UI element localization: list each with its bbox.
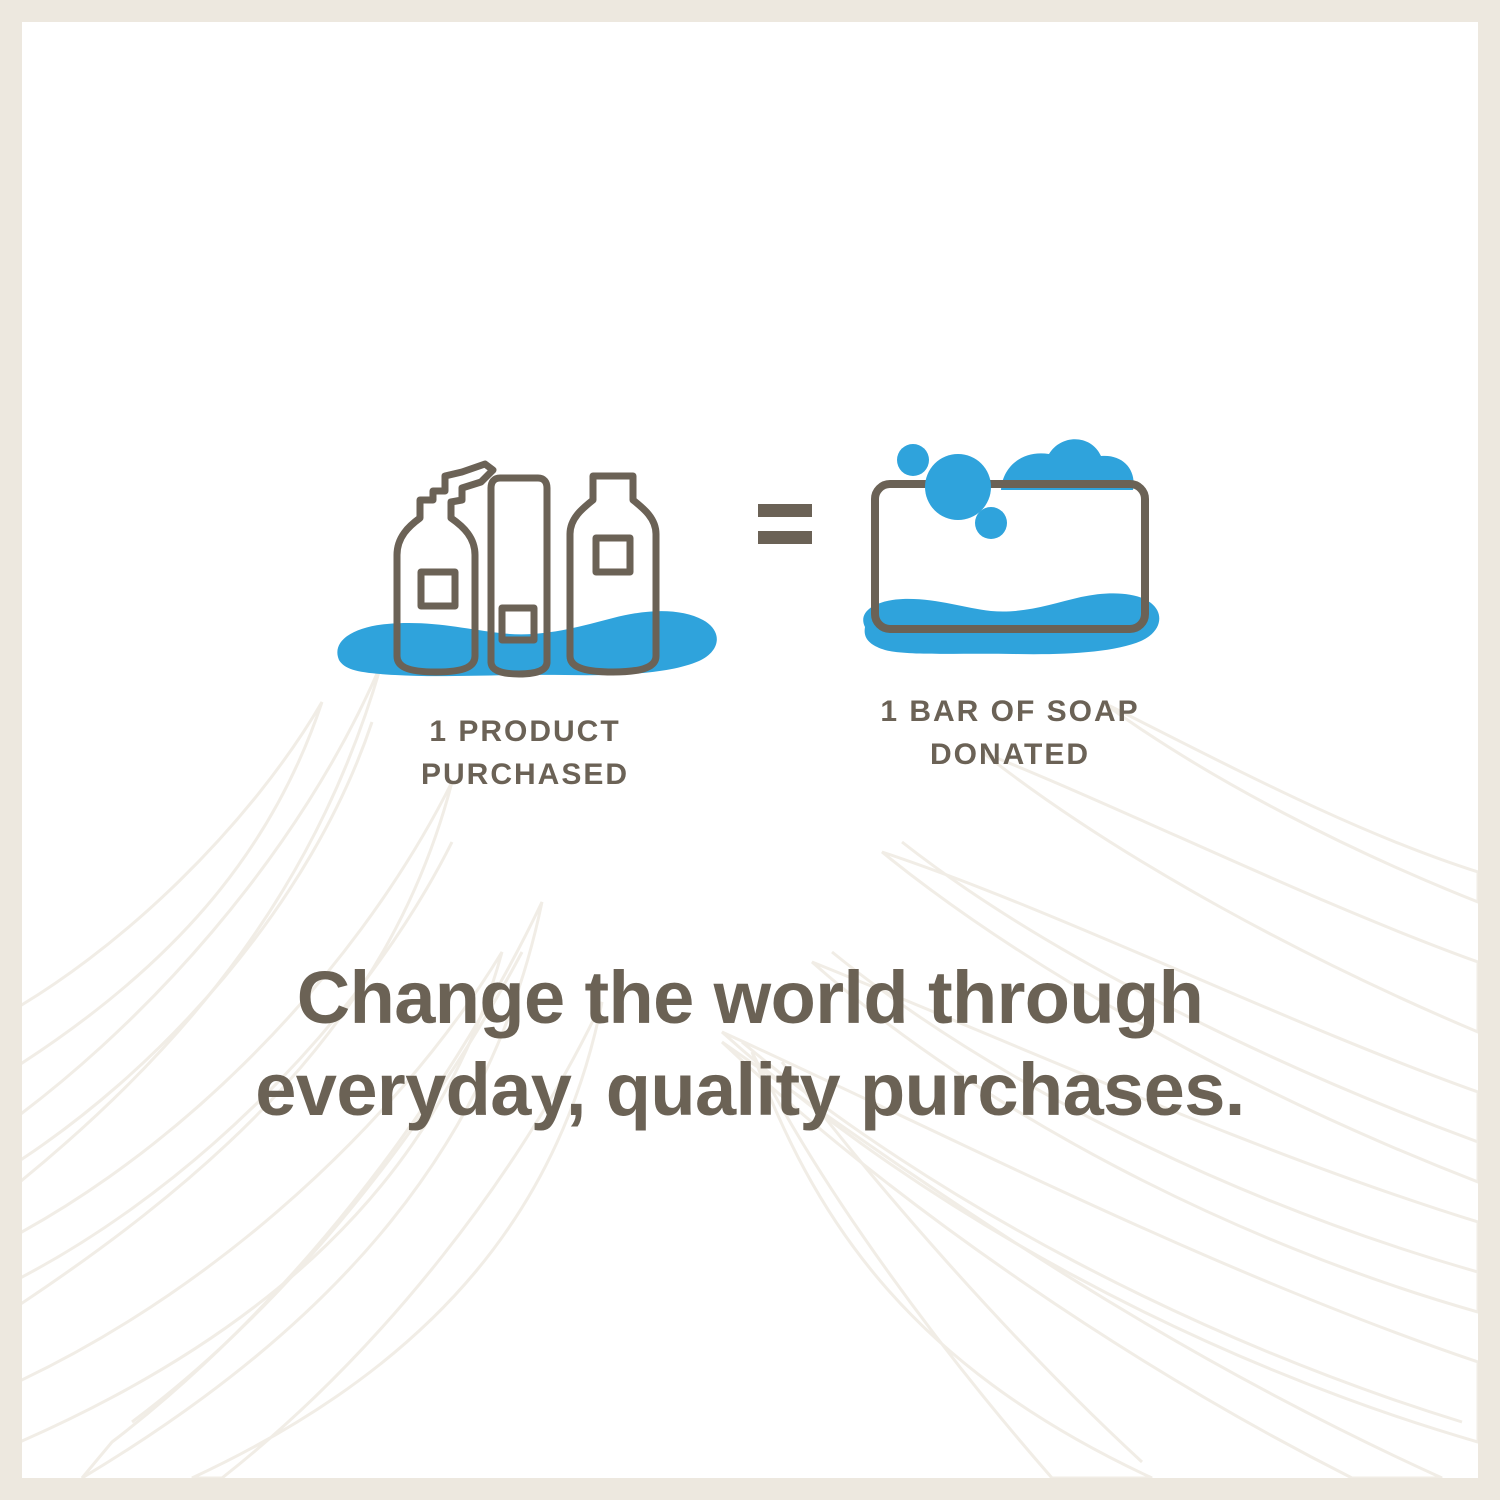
bar-of-soap-with-bubbles-icon xyxy=(845,412,1175,677)
three-product-bottles-icon xyxy=(325,412,725,697)
equals-bar-bottom xyxy=(758,531,812,544)
purchase-donation-comparison: 1 PRODUCT PURCHASED xyxy=(22,412,1478,796)
bubble-small-top xyxy=(897,444,929,476)
headline-line-2: everyday, quality purchases. xyxy=(82,1044,1418,1136)
product-purchased-block: 1 PRODUCT PURCHASED xyxy=(325,412,725,796)
promo-graphic: 1 PRODUCT PURCHASED xyxy=(0,0,1500,1500)
caption-line-2: PURCHASED xyxy=(421,758,629,791)
caption-line-1: 1 BAR OF SOAP xyxy=(880,695,1139,728)
soap-donated-block: 1 BAR OF SOAP DONATED xyxy=(845,412,1175,776)
caption-line-1: 1 PRODUCT xyxy=(429,715,620,748)
bubble-large xyxy=(925,454,991,520)
bubble-tiny xyxy=(975,507,1007,539)
equals-sign-icon xyxy=(725,504,845,544)
product-purchased-caption: 1 PRODUCT PURCHASED xyxy=(421,711,629,796)
headline: Change the world through everyday, quali… xyxy=(22,952,1478,1136)
white-canvas: 1 PRODUCT PURCHASED xyxy=(22,22,1478,1478)
caption-line-2: DONATED xyxy=(930,738,1090,771)
soap-donated-caption: 1 BAR OF SOAP DONATED xyxy=(880,691,1139,776)
water-puddle-shape xyxy=(863,593,1159,654)
equals-bar-top xyxy=(758,504,812,517)
headline-line-1: Change the world through xyxy=(82,952,1418,1044)
